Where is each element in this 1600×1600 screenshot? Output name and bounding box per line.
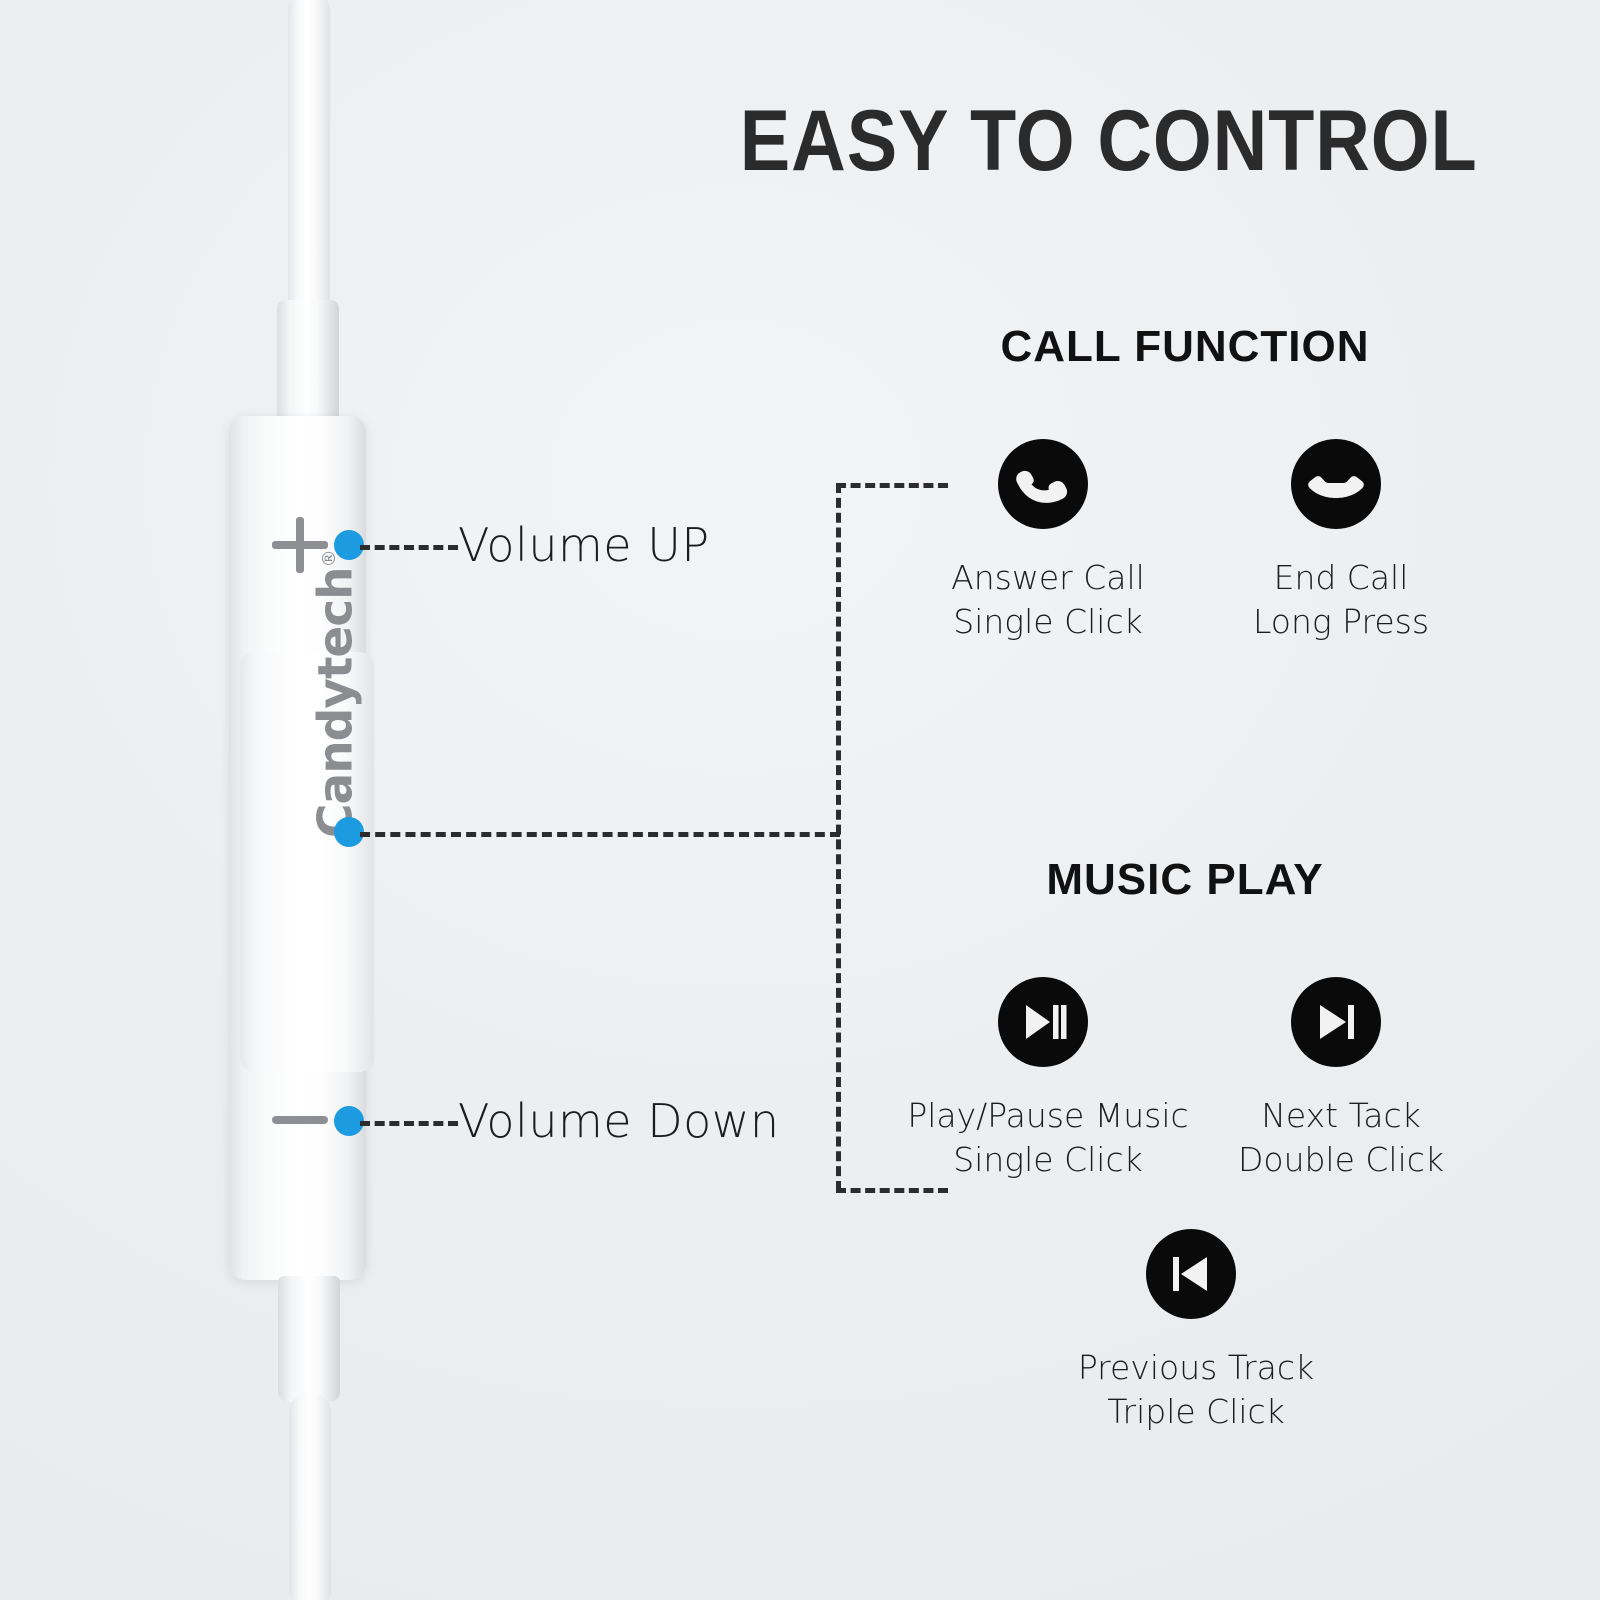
caption-action: Long Press: [1191, 600, 1491, 644]
earphone-cable-top: [288, 0, 330, 320]
caption-action: Single Click: [898, 600, 1198, 644]
caption-answer-call: Answer Call Single Click: [898, 556, 1198, 644]
earphone-strain-relief-bottom: [278, 1276, 340, 1402]
caption-title: Next Tack: [1191, 1094, 1491, 1138]
phone-handset-icon[interactable]: [998, 439, 1088, 529]
phone-hangup-icon[interactable]: [1291, 439, 1381, 529]
caption-title: Previous Track: [1046, 1346, 1346, 1390]
caption-action: Triple Click: [1046, 1390, 1346, 1434]
leader-line-multifunction: [360, 832, 840, 837]
caption-previous-track: Previous Track Triple Click: [1046, 1346, 1346, 1434]
brand-logo: Candytech®: [297, 608, 363, 838]
caption-title: End Call: [1191, 556, 1491, 600]
play-pause-icon[interactable]: [998, 977, 1088, 1067]
earphone-strain-relief-top: [277, 300, 339, 422]
volume-down-minus-icon[interactable]: [272, 1116, 328, 1124]
callout-label-volume-up: Volume UP: [458, 518, 710, 572]
section-heading-music-play: MUSIC PLAY: [940, 855, 1430, 905]
caption-play-pause: Play/Pause Music Single Click: [898, 1094, 1198, 1182]
page-title: EASY TO CONTROL: [740, 92, 1470, 191]
leader-line-volume-down: [360, 1121, 458, 1126]
brand-logo-text: Candytech: [309, 567, 364, 838]
bracket-vertical: [836, 483, 841, 1191]
caption-action: Single Click: [898, 1138, 1198, 1182]
previous-track-icon[interactable]: [1146, 1229, 1236, 1319]
caption-title: Play/Pause Music: [898, 1094, 1198, 1138]
caption-end-call: End Call Long Press: [1191, 556, 1491, 644]
caption-next-track: Next Tack Double Click: [1191, 1094, 1491, 1182]
product-infographic: EASY TO CONTROL Candytech® Volume UP Vol…: [0, 0, 1600, 1600]
callout-label-volume-down: Volume Down: [458, 1094, 780, 1148]
next-track-icon[interactable]: [1291, 977, 1381, 1067]
earphone-cable-bottom: [289, 1392, 331, 1600]
caption-action: Double Click: [1191, 1138, 1491, 1182]
leader-line-volume-up: [360, 545, 458, 550]
section-heading-call-function: CALL FUNCTION: [940, 322, 1430, 372]
bracket-arm-top: [836, 483, 948, 488]
bracket-arm-bottom: [836, 1188, 948, 1193]
caption-title: Answer Call: [898, 556, 1198, 600]
